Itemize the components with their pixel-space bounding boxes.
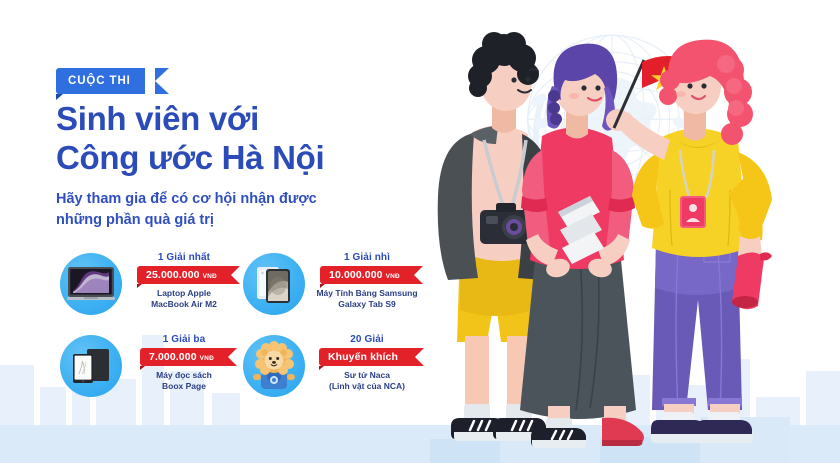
headline-line-2: Công ước Hà Nội	[56, 139, 416, 178]
badge-tail-shape	[155, 68, 169, 94]
prize-row: 1 Giải ba 7.000.000 VNĐ Máy đọc sách Boo…	[60, 332, 430, 414]
promo-poster: CUỘC THI Sinh viên với Công ước Hà Nội H…	[0, 0, 840, 463]
prize-currency: VNĐ	[203, 273, 217, 280]
lion-mascot-icon	[243, 335, 305, 397]
ereader-icon	[60, 335, 122, 397]
prize-row: 1 Giải nhất 25.000.000 VNĐ Laptop Apple …	[60, 250, 430, 332]
prize-name-line-2: MacBook Air M2	[125, 299, 243, 310]
prize-rank-label: 1 Giải ba	[125, 334, 243, 345]
prize-amount-value: Khuyến khích	[328, 351, 398, 363]
prize-amount-tag: 10.000.000 VNĐ	[320, 265, 414, 284]
prize-item-third: 1 Giải ba 7.000.000 VNĐ Máy đọc sách Boo…	[60, 332, 243, 414]
prize-info: 1 Giải nhất 25.000.000 VNĐ Laptop Apple …	[125, 250, 243, 310]
prize-item-second: 1 Giải nhì 10.000.000 VNĐ Máy Tính Bảng …	[243, 250, 426, 332]
tablet-icon	[243, 253, 305, 315]
prize-name-line-1: Máy đọc sách	[125, 370, 243, 381]
prize-name-line-2: Boox Page	[125, 381, 243, 392]
prize-amount-tag: 25.000.000 VNĐ	[137, 265, 231, 284]
prize-amount-tag: Khuyến khích	[319, 347, 415, 366]
prize-rank-label: 1 Giải nhất	[125, 252, 243, 263]
laptop-icon	[60, 253, 122, 315]
subheading: Hãy tham gia để có cơ hội nhận được nhữn…	[56, 189, 386, 231]
three-students-illustration	[408, 0, 840, 463]
prize-list: 1 Giải nhất 25.000.000 VNĐ Laptop Apple …	[60, 250, 430, 414]
contest-badge-label: CUỘC THI	[68, 75, 131, 87]
prize-currency: VNĐ	[386, 273, 400, 280]
subheading-line-1: Hãy tham gia để có cơ hội nhận được	[56, 189, 386, 210]
prize-item-consolation: 20 Giải Khuyến khích Sư tử Naca (Linh vậ…	[243, 332, 426, 414]
prize-amount-value: 25.000.000	[146, 269, 200, 281]
prize-item-first: 1 Giải nhất 25.000.000 VNĐ Laptop Apple …	[60, 250, 243, 332]
subheading-line-2: những phần quà giá trị	[56, 210, 386, 231]
prize-product-name: Laptop Apple MacBook Air M2	[125, 288, 243, 310]
headline-line-1: Sinh viên với	[56, 100, 416, 139]
prize-info: 1 Giải ba 7.000.000 VNĐ Máy đọc sách Boo…	[125, 332, 243, 392]
prize-amount-value: 7.000.000	[149, 351, 197, 363]
prize-currency: VNĐ	[200, 355, 214, 362]
prize-amount-tag: 7.000.000 VNĐ	[140, 347, 228, 366]
page-title: Sinh viên với Công ước Hà Nội	[56, 100, 416, 177]
prize-product-name: Máy đọc sách Boox Page	[125, 370, 243, 392]
prize-name-line-1: Laptop Apple	[125, 288, 243, 299]
contest-badge: CUỘC THI	[56, 68, 145, 94]
prize-amount-value: 10.000.000	[329, 269, 383, 281]
